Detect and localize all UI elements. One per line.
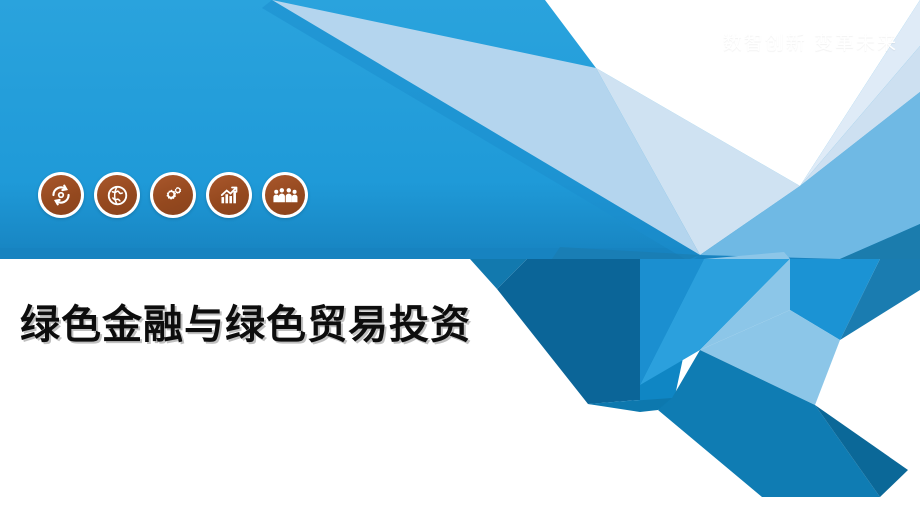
gears-icon (153, 175, 193, 215)
background-artwork (0, 0, 920, 518)
icon-badge-gears[interactable] (150, 172, 196, 218)
facet-dark-left (497, 259, 640, 404)
header-tagline: 数智创新 变革未来 (723, 28, 898, 55)
slide-canvas: 数智创新 变革未来 (0, 0, 920, 518)
icon-badge-globe[interactable] (94, 172, 140, 218)
recycle-arrows-icon (41, 175, 81, 215)
icon-badge-recycle[interactable] (38, 172, 84, 218)
icon-badge-people[interactable] (262, 172, 308, 218)
globe-icon (97, 175, 137, 215)
bar-chart-growth-icon (209, 175, 249, 215)
icon-row (38, 172, 308, 218)
people-group-icon (265, 175, 305, 215)
page-title: 绿色金融与绿色贸易投资 (20, 292, 471, 350)
icon-badge-chart[interactable] (206, 172, 252, 218)
